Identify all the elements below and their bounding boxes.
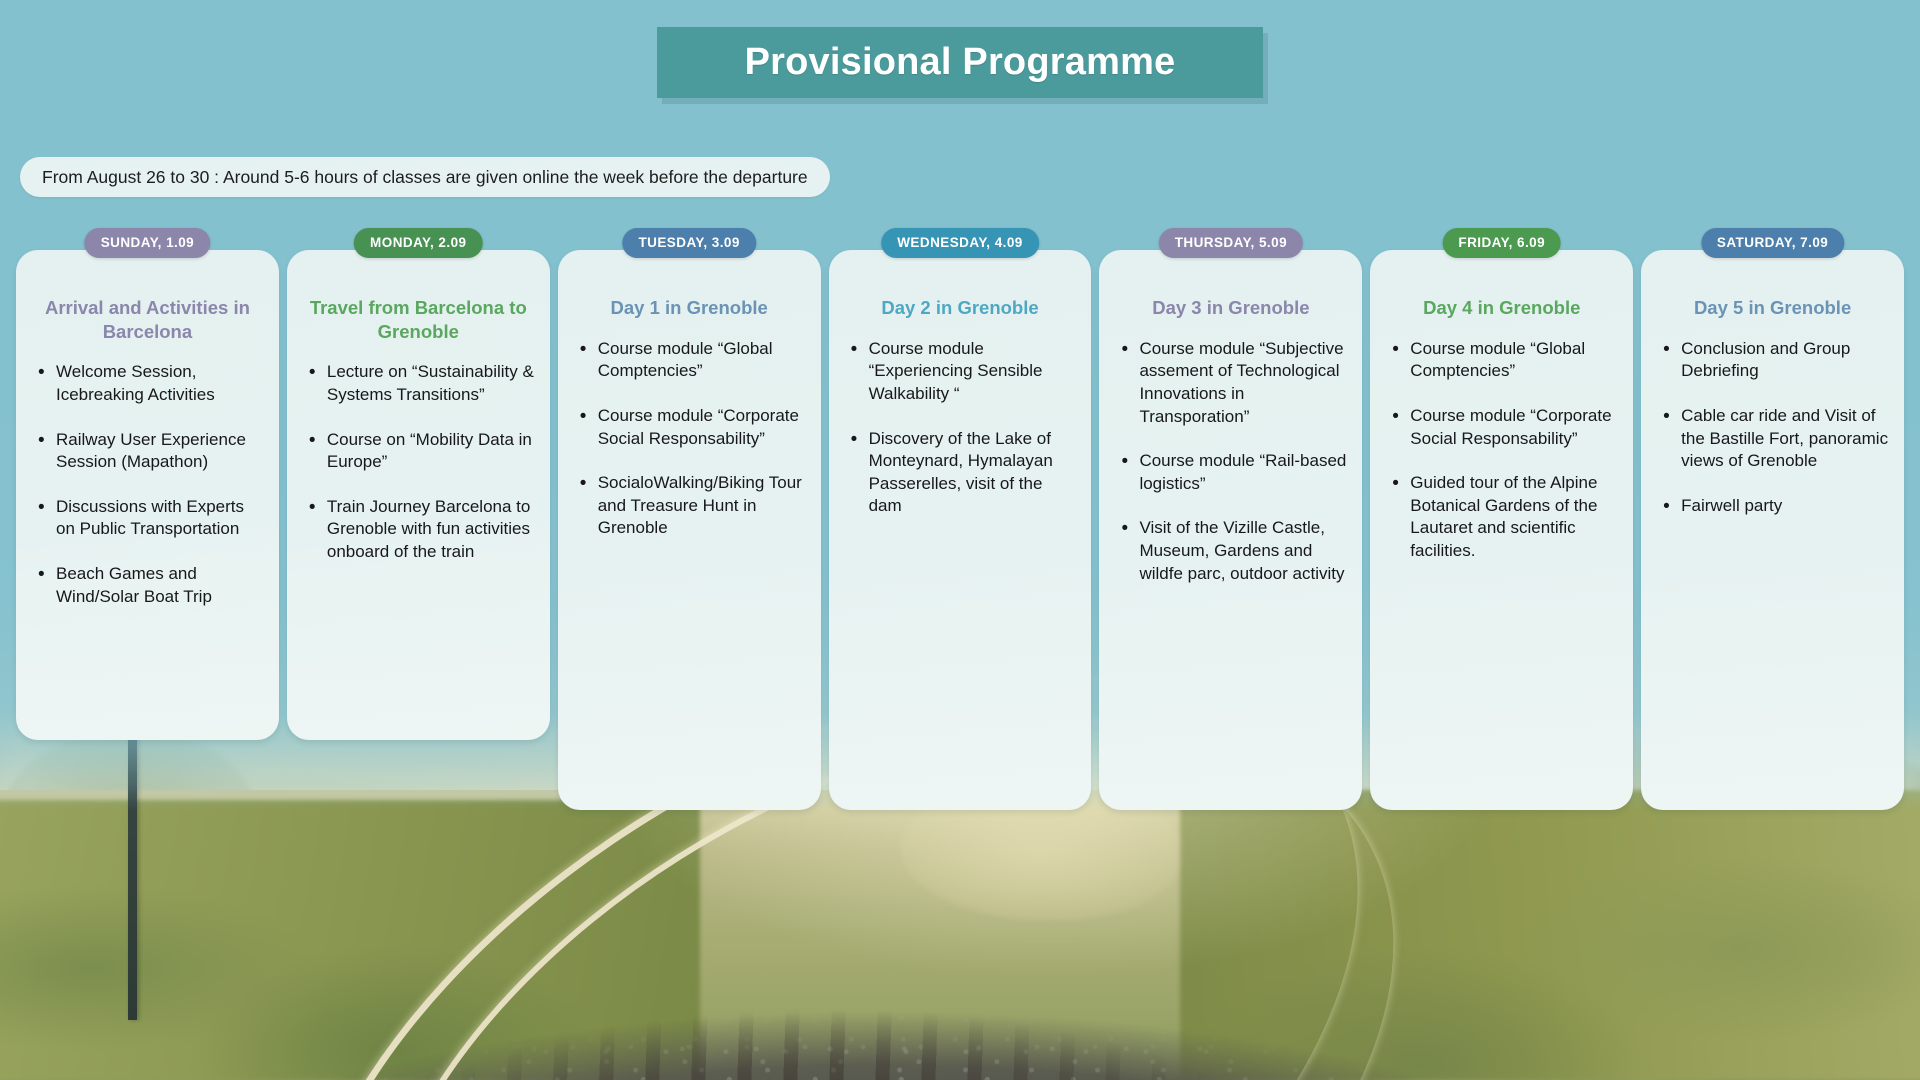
list-item: Course on “Mobility Data in Europe” — [305, 429, 536, 474]
list-item: Fairwell party — [1659, 495, 1890, 518]
day-title-friday: Day 4 in Grenoble — [1384, 296, 1619, 320]
day-card-tuesday[interactable]: TUESDAY, 3.09 Day 1 in Grenoble Course m… — [558, 250, 821, 810]
day-items-monday: Lecture on “Sustainability & Systems Tra… — [301, 361, 536, 563]
day-card-friday[interactable]: FRIDAY, 6.09 Day 4 in Grenoble Course mo… — [1370, 250, 1633, 810]
list-item: Lecture on “Sustainability & Systems Tra… — [305, 361, 536, 406]
day-items-tuesday: Course module “Global Comptencies” Cours… — [572, 338, 807, 540]
pre-departure-notice-text: From August 26 to 30 : Around 5-6 hours … — [42, 167, 808, 188]
day-badge-friday: FRIDAY, 6.09 — [1442, 228, 1561, 258]
day-title-monday: Travel from Barcelona to Grenoble — [301, 296, 536, 343]
day-title-tuesday: Day 1 in Grenoble — [572, 296, 807, 320]
day-card-wednesday[interactable]: WEDNESDAY, 4.09 Day 2 in Grenoble Course… — [829, 250, 1092, 810]
title-banner: Provisional Programme — [657, 27, 1263, 98]
day-items-thursday: Course module “Subjective assement of Te… — [1113, 338, 1348, 585]
list-item: Railway User Experience Session (Mapatho… — [34, 429, 265, 474]
day-badge-sunday: SUNDAY, 1.09 — [85, 228, 210, 258]
day-card-sunday[interactable]: SUNDAY, 1.09 Arrival and Activities in B… — [16, 250, 279, 740]
day-title-thursday: Day 3 in Grenoble — [1113, 296, 1348, 320]
day-card-saturday[interactable]: SATURDAY, 7.09 Day 5 in Grenoble Conclus… — [1641, 250, 1904, 810]
list-item: Course module “Global Comptencies” — [1388, 338, 1619, 383]
day-badge-thursday: THURSDAY, 5.09 — [1159, 228, 1303, 258]
day-badge-tuesday: TUESDAY, 3.09 — [622, 228, 755, 258]
day-card-monday[interactable]: MONDAY, 2.09 Travel from Barcelona to Gr… — [287, 250, 550, 740]
list-item: Discovery of the Lake of Monteynard, Hym… — [847, 428, 1078, 518]
day-cards-row: SUNDAY, 1.09 Arrival and Activities in B… — [16, 250, 1904, 810]
day-card-thursday[interactable]: THURSDAY, 5.09 Day 3 in Grenoble Course … — [1099, 250, 1362, 810]
list-item: Course module “Global Comptencies” — [576, 338, 807, 383]
programme-content: Provisional Programme From August 26 to … — [0, 0, 1920, 1080]
day-badge-monday: MONDAY, 2.09 — [354, 228, 482, 258]
list-item: Beach Games and Wind/Solar Boat Trip — [34, 563, 265, 608]
list-item: Guided tour of the Alpine Botanical Gard… — [1388, 472, 1619, 562]
list-item: Course module “Subjective assement of Te… — [1117, 338, 1348, 428]
page-title: Provisional Programme — [745, 41, 1176, 84]
day-items-sunday: Welcome Session, Icebreaking Activities … — [30, 361, 265, 608]
list-item: Conclusion and Group Debriefing — [1659, 338, 1890, 383]
day-items-friday: Course module “Global Comptencies” Cours… — [1384, 338, 1619, 563]
list-item: SocialoWalking/Biking Tour and Treasure … — [576, 472, 807, 540]
list-item: Course module “Corporate Social Responsa… — [1388, 405, 1619, 450]
list-item: Cable car ride and Visit of the Bastille… — [1659, 405, 1890, 473]
list-item: Discussions with Experts on Public Trans… — [34, 496, 265, 541]
day-title-wednesday: Day 2 in Grenoble — [843, 296, 1078, 320]
list-item: Course module “Corporate Social Responsa… — [576, 405, 807, 450]
list-item: Welcome Session, Icebreaking Activities — [34, 361, 265, 406]
pre-departure-notice: From August 26 to 30 : Around 5-6 hours … — [20, 157, 830, 197]
day-badge-saturday: SATURDAY, 7.09 — [1701, 228, 1844, 258]
list-item: Visit of the Vizille Castle, Museum, Gar… — [1117, 517, 1348, 585]
day-badge-wednesday: WEDNESDAY, 4.09 — [881, 228, 1039, 258]
day-title-sunday: Arrival and Activities in Barcelona — [30, 296, 265, 343]
day-items-wednesday: Course module “Experiencing Sensible Wal… — [843, 338, 1078, 518]
list-item: Train Journey Barcelona to Grenoble with… — [305, 496, 536, 564]
day-title-saturday: Day 5 in Grenoble — [1655, 296, 1890, 320]
list-item: Course module “Rail-based logistics” — [1117, 450, 1348, 495]
list-item: Course module “Experiencing Sensible Wal… — [847, 338, 1078, 406]
day-items-saturday: Conclusion and Group Debriefing Cable ca… — [1655, 338, 1890, 518]
